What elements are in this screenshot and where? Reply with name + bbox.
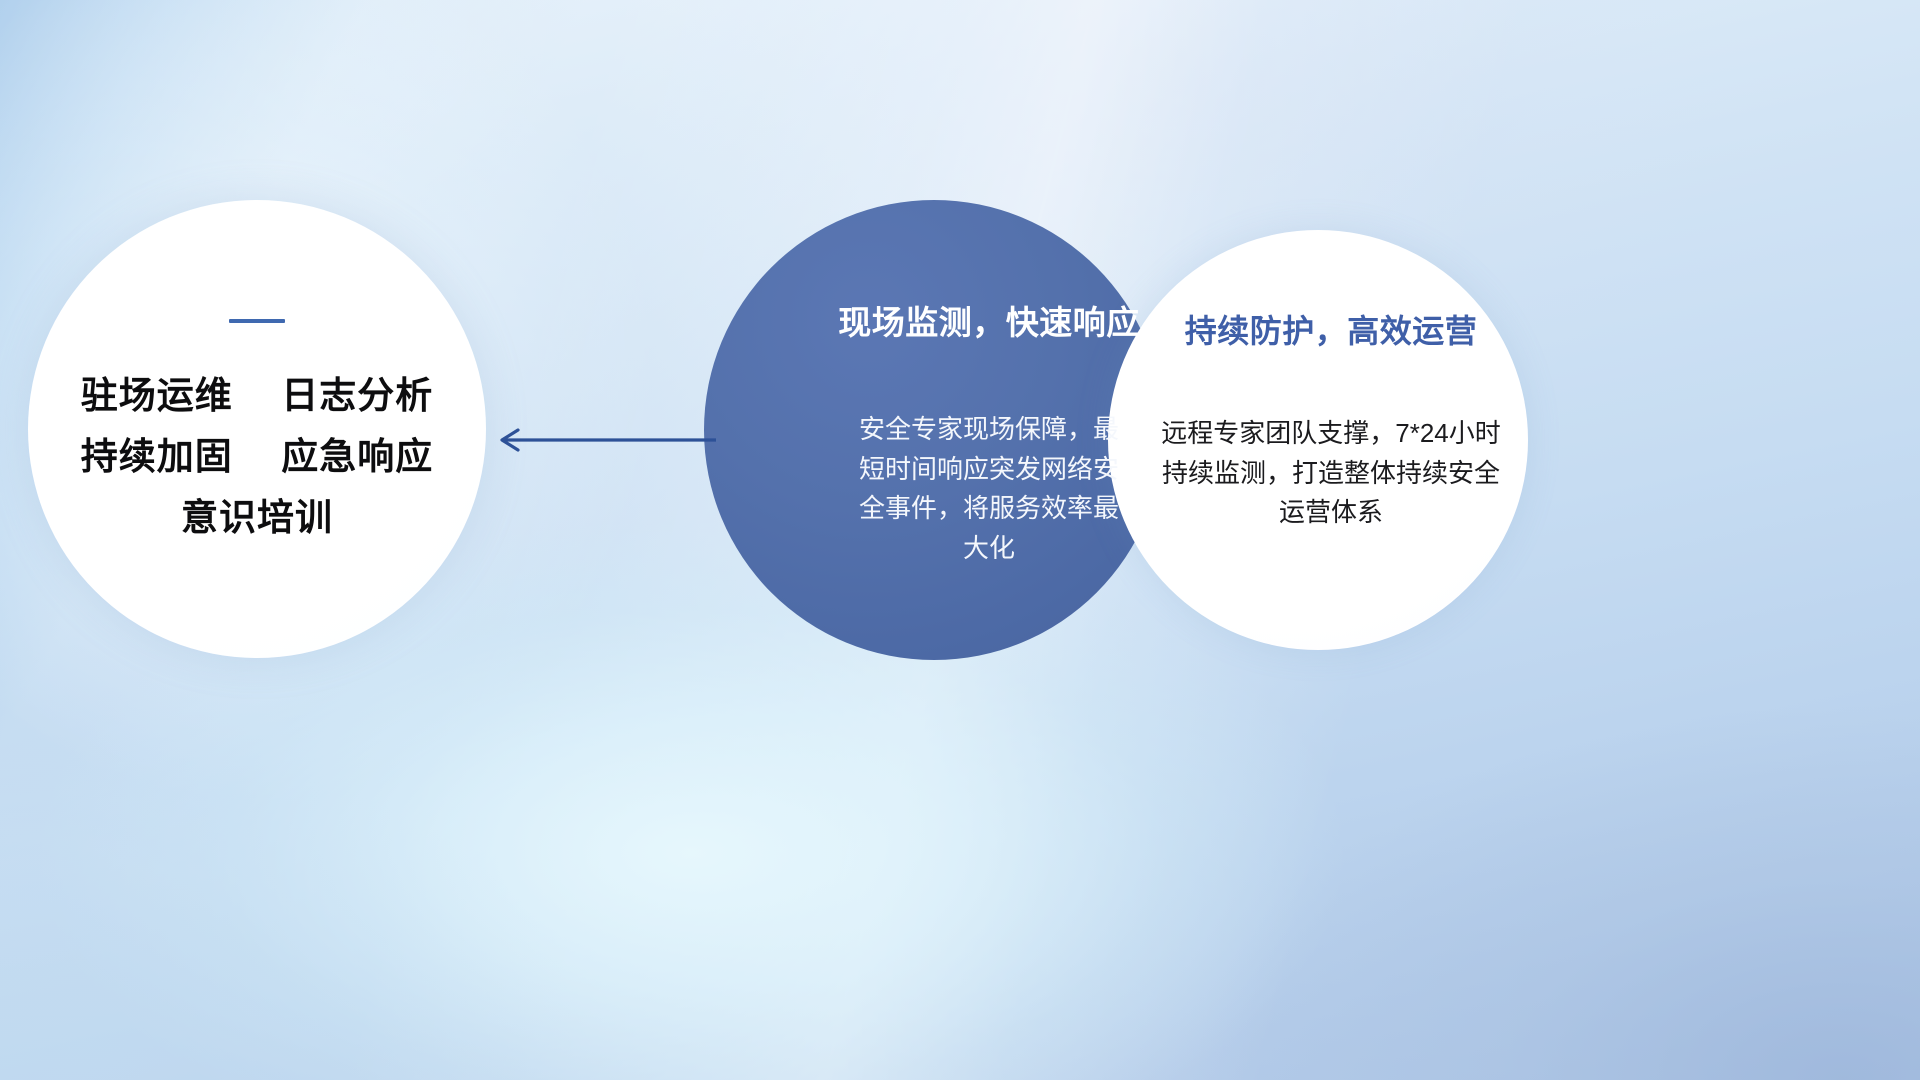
left-circle-line-2-second: 应急响应 bbox=[281, 436, 433, 477]
left-arrow-icon bbox=[488, 410, 718, 470]
middle-circle-body: 安全专家现场保障，最短时间响应突发网络安全事件，将服务效率最大化 bbox=[858, 410, 1120, 568]
left-circle-content: 驻场运维 日志分析 持续加固 应急响应 意识培训 bbox=[28, 200, 486, 658]
horizontal-dash-icon bbox=[229, 319, 285, 323]
left-circle-line-1-second: 日志分析 bbox=[281, 375, 433, 416]
slide-canvas: 驻场运维 日志分析 持续加固 应急响应 意识培训 现场监测，快速响应 安全专家现… bbox=[0, 0, 1920, 1080]
right-circle-title: 持续防护，高效运营 bbox=[1185, 306, 1478, 352]
middle-circle-title: 现场监测，快速响应 bbox=[838, 296, 1140, 344]
right-circle-body: 远程专家团队支撑，7*24小时持续监测，打造整体持续安全运营体系 bbox=[1155, 414, 1507, 533]
left-circle-line-3: 意识培训 bbox=[181, 499, 333, 536]
right-circle-content: 持续防护，高效运营 远程专家团队支撑，7*24小时持续监测，打造整体持续安全运营… bbox=[1108, 230, 1528, 650]
left-circle-line-1: 驻场运维 日志分析 bbox=[81, 377, 434, 414]
left-circle-line-1-first: 驻场运维 bbox=[81, 375, 233, 416]
left-circle-line-2-first: 持续加固 bbox=[81, 436, 233, 477]
middle-circle-content: 现场监测，快速响应 安全专家现场保障，最短时间响应突发网络安全事件，将服务效率最… bbox=[704, 200, 1164, 660]
left-circle-line-2: 持续加固 应急响应 bbox=[81, 438, 434, 475]
